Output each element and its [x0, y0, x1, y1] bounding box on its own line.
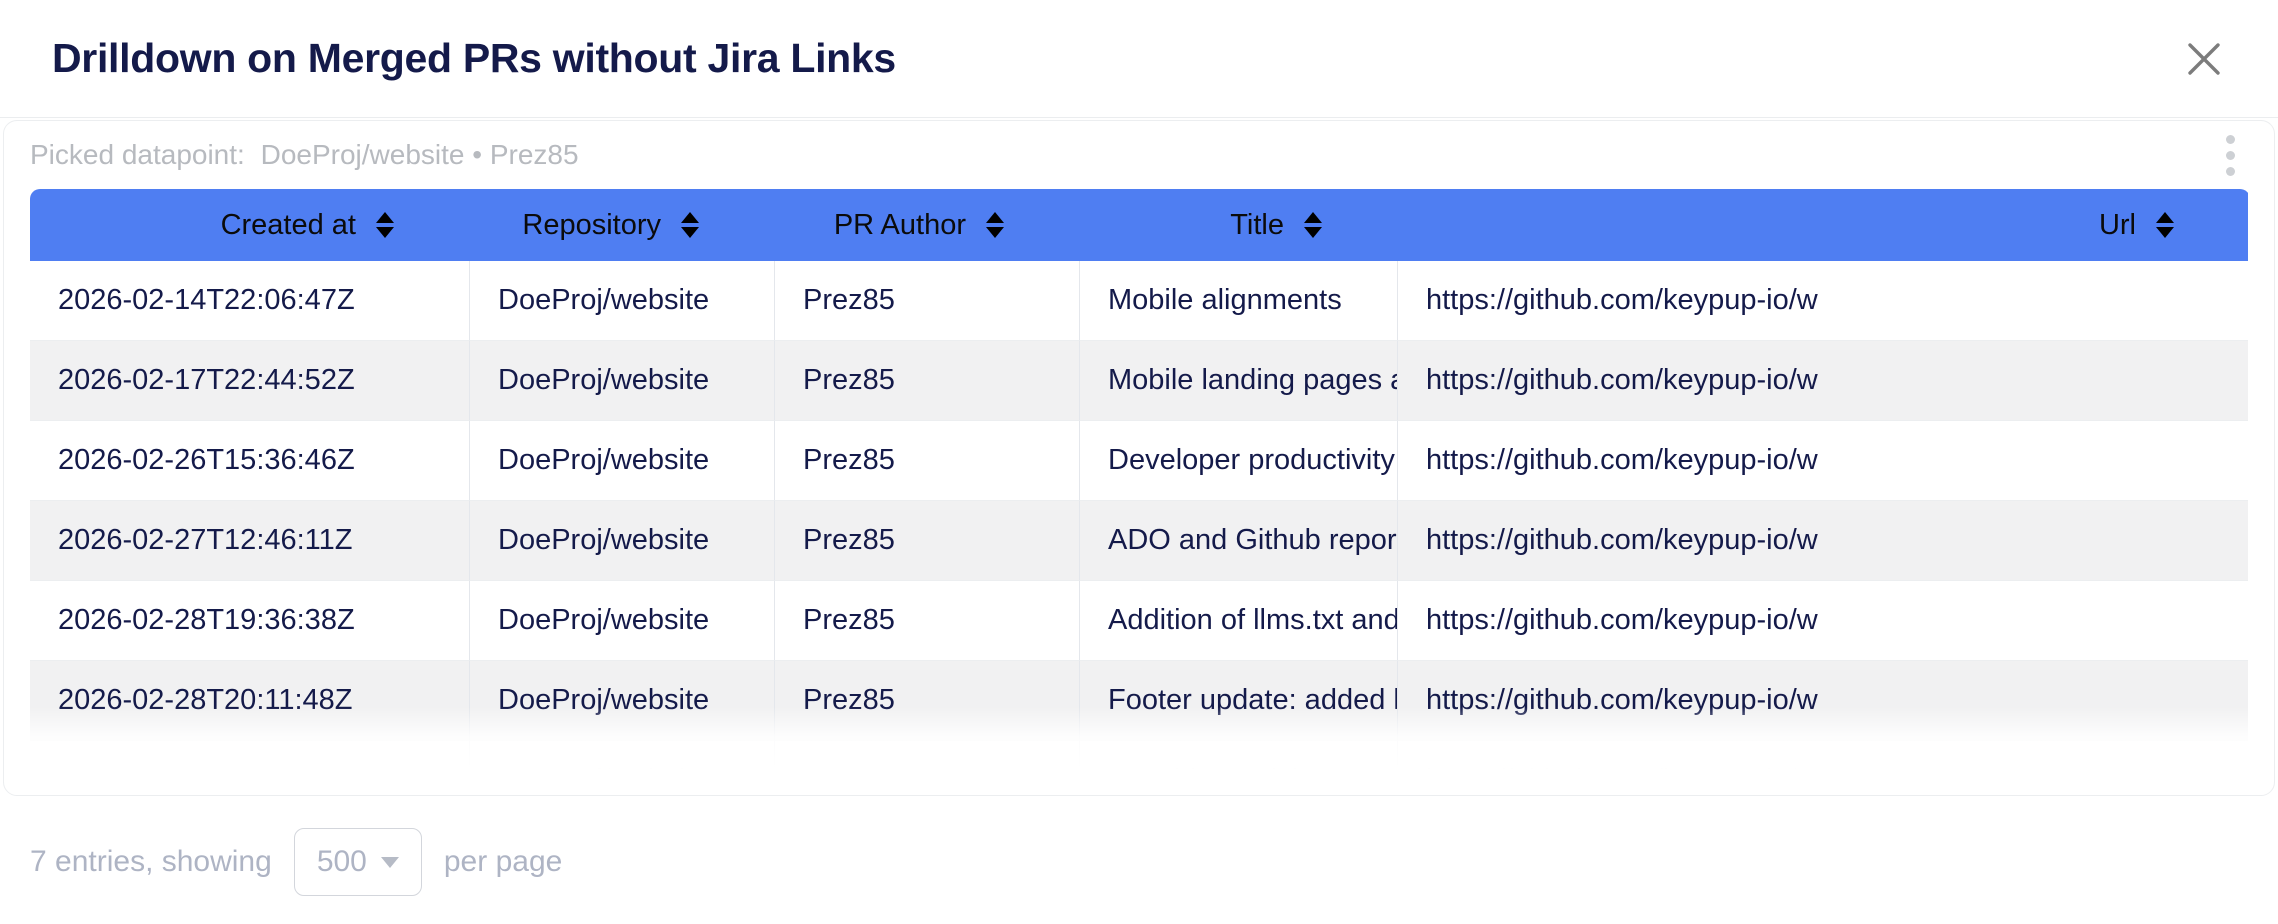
cell-created_at: 2026-02-28T19:36:38Z	[30, 581, 470, 661]
cell-repository: DoeProj/website	[470, 501, 775, 581]
table-row[interactable]: 2026-02-28T19:36:38ZDoeProj/websitePrez8…	[30, 581, 2248, 661]
cell-created_at: 2026-02-28T20:11:48Z	[30, 661, 470, 741]
cell-repository: DoeProj/website	[470, 341, 775, 421]
cell-url[interactable]: https://github.com/keypup-io/w	[1398, 741, 2248, 769]
close-icon	[2184, 39, 2224, 79]
kebab-dot	[2226, 135, 2235, 144]
cell-title: Mobile alignments	[1080, 261, 1398, 341]
per-page-select[interactable]: 500	[294, 828, 422, 896]
sort-icon[interactable]	[1304, 212, 1322, 238]
cell-url[interactable]: https://github.com/keypup-io/w	[1398, 581, 2248, 661]
cell-url[interactable]: https://github.com/keypup-io/w	[1398, 261, 2248, 341]
picked-datapoint-row: Picked datapoint: DoeProj/website • Prez…	[4, 121, 2274, 189]
cell-url[interactable]: https://github.com/keypup-io/w	[1398, 501, 2248, 581]
cell-repository: DoeProj/website	[470, 261, 775, 341]
cell-url[interactable]: https://github.com/keypup-io/w	[1398, 421, 2248, 501]
modal-footer: 7 entries, showing 500 per page	[0, 800, 2278, 924]
cell-pr_author: Prez85	[775, 661, 1080, 741]
column-header-label: Title	[1230, 209, 1284, 242]
cell-created_at: 2026-02-17T22:44:52Z	[30, 341, 470, 421]
picked-datapoint-value: DoeProj/website • Prez85	[261, 139, 579, 170]
kebab-dot	[2226, 151, 2235, 160]
drilldown-table: Created at Repository	[30, 189, 2248, 769]
column-header-repository[interactable]: Repository	[470, 189, 775, 261]
cell-created_at: 2026-02-28T13:19:00Z	[30, 741, 470, 769]
table-row[interactable]: 2026-02-27T12:46:11ZDoeProj/websitePrez8…	[30, 501, 2248, 581]
cell-repository: DoeProj/website	[470, 581, 775, 661]
modal-body: Picked datapoint: DoeProj/website • Prez…	[0, 118, 2278, 924]
page-title: Drilldown on Merged PRs without Jira Lin…	[52, 35, 896, 82]
cell-title: Footer update: added llms.t...	[1080, 661, 1398, 741]
cell-created_at: 2026-02-14T22:06:47Z	[30, 261, 470, 341]
table-body: 2026-02-14T22:06:47ZDoeProj/websitePrez8…	[30, 261, 2248, 769]
cell-repository: DoeProj/website	[470, 741, 775, 769]
entries-count-label: 7 entries, showing	[30, 845, 272, 879]
cell-created_at: 2026-02-26T15:36:46Z	[30, 421, 470, 501]
sort-icon[interactable]	[986, 212, 1004, 238]
table-row[interactable]: 2026-02-17T22:44:52ZDoeProj/websitePrez8…	[30, 341, 2248, 421]
cell-pr_author: Prez85	[775, 741, 1080, 769]
cell-pr_author: Prez85	[775, 501, 1080, 581]
cell-pr_author: Prez85	[775, 341, 1080, 421]
kebab-dot	[2226, 167, 2235, 176]
cell-url[interactable]: https://github.com/keypup-io/w	[1398, 661, 2248, 741]
sort-icon[interactable]	[681, 212, 699, 238]
cell-repository: DoeProj/website	[470, 661, 775, 741]
column-header-label: Created at	[221, 209, 356, 242]
per-page-value: 500	[317, 845, 367, 879]
column-header-label: Repository	[522, 209, 661, 242]
sort-icon[interactable]	[2156, 212, 2174, 238]
table-row[interactable]: 2026-02-28T20:11:48ZDoeProj/websitePrez8…	[30, 661, 2248, 741]
column-header-pr-author[interactable]: PR Author	[775, 189, 1080, 261]
table-row[interactable]: 2026-02-28T13:19:00ZDoeProj/websitePrez8…	[30, 741, 2248, 769]
picked-datapoint-label: Picked datapoint:	[30, 139, 245, 170]
per-page-suffix-label: per page	[444, 845, 562, 879]
drilldown-card: Picked datapoint: DoeProj/website • Prez…	[3, 120, 2275, 796]
cell-pr_author: Prez85	[775, 421, 1080, 501]
table-row[interactable]: 2026-02-26T15:36:46ZDoeProj/websitePrez8…	[30, 421, 2248, 501]
cell-repository: DoeProj/website	[470, 421, 775, 501]
drilldown-table-scroll[interactable]: Created at Repository	[30, 189, 2248, 769]
cell-title: Addition of llms.txt and llms...	[1080, 581, 1398, 661]
cell-title: New blog article - SPACE i...	[1080, 741, 1398, 769]
column-header-label: PR Author	[834, 209, 966, 242]
column-header-created-at[interactable]: Created at	[30, 189, 470, 261]
cell-pr_author: Prez85	[775, 261, 1080, 341]
cell-title: Developer productivity blog...	[1080, 421, 1398, 501]
column-header-label: Url	[2099, 209, 2136, 242]
chevron-down-icon	[381, 857, 399, 868]
close-button[interactable]	[2176, 31, 2232, 87]
picked-datapoint: Picked datapoint: DoeProj/website • Prez…	[30, 139, 579, 171]
cell-created_at: 2026-02-27T12:46:11Z	[30, 501, 470, 581]
table-head: Created at Repository	[30, 189, 2248, 261]
kebab-menu-icon[interactable]	[2210, 131, 2250, 179]
table-header-row: Created at Repository	[30, 189, 2248, 261]
table-row[interactable]: 2026-02-14T22:06:47ZDoeProj/websitePrez8…	[30, 261, 2248, 341]
column-header-url[interactable]: Url	[1398, 189, 2248, 261]
cell-url[interactable]: https://github.com/keypup-io/w	[1398, 341, 2248, 421]
sort-icon[interactable]	[376, 212, 394, 238]
cell-title: ADO and Github reporting b...	[1080, 501, 1398, 581]
modal-header: Drilldown on Merged PRs without Jira Lin…	[0, 0, 2278, 118]
cell-pr_author: Prez85	[775, 581, 1080, 661]
cell-title: Mobile landing pages align	[1080, 341, 1398, 421]
drilldown-modal: Drilldown on Merged PRs without Jira Lin…	[0, 0, 2278, 924]
column-header-title[interactable]: Title	[1080, 189, 1398, 261]
